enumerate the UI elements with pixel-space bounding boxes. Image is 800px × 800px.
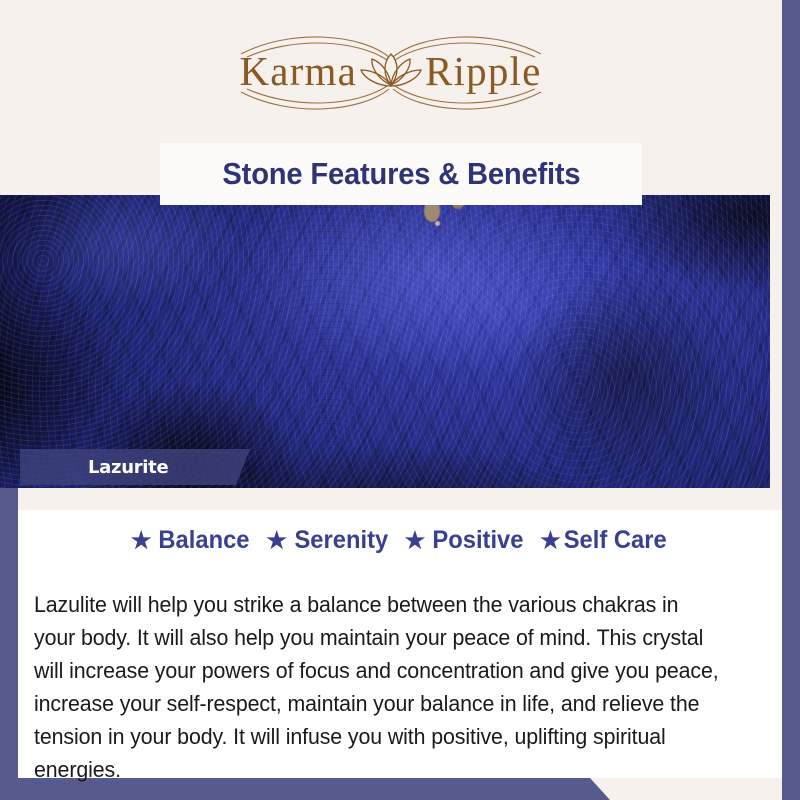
stone-name-label: Lazurite (88, 457, 168, 478)
stone-photo-grain-layer (0, 195, 770, 488)
star-icon: ★ (131, 529, 152, 552)
pyrite-fleck (435, 221, 440, 226)
right-purple-edge-decoration (782, 0, 800, 800)
benefit-item-positive: ★ Positive (405, 526, 527, 555)
page-title: Stone Features & Benefits (222, 156, 580, 192)
content-panel-top-strip (18, 488, 782, 510)
star-icon: ★ (266, 529, 287, 552)
benefit-item-self-care: ★ Self Care (540, 526, 669, 555)
benefit-item-balance: ★ Balance (131, 526, 253, 555)
benefit-label: Balance (159, 526, 250, 555)
star-icon: ★ (540, 529, 561, 552)
benefit-item-serenity: ★ Serenity (266, 526, 390, 555)
benefit-label: Positive (433, 526, 524, 555)
logo-word-ripple: Ripple (425, 48, 542, 94)
stone-name-tag: Lazurite (20, 449, 250, 485)
left-purple-edge-decoration (0, 488, 18, 800)
stone-photo (0, 195, 770, 488)
stone-description-text: Lazulite will help you strike a balance … (34, 588, 725, 786)
benefit-label: Self Care (563, 526, 666, 555)
benefit-label: Serenity (294, 526, 388, 555)
infographic-card: Karma Ripple Stone Features & Benefits L… (0, 0, 800, 800)
brand-logo: Karma Ripple (0, 30, 782, 114)
star-icon: ★ (405, 529, 426, 552)
logo-svg: Karma Ripple (211, 30, 571, 114)
benefits-row: ★ Balance ★ Serenity ★ Positive ★ Self C… (18, 526, 782, 555)
lotus-icon (361, 54, 421, 86)
title-banner: Stone Features & Benefits (160, 143, 642, 205)
logo-word-karma: Karma (239, 48, 357, 94)
